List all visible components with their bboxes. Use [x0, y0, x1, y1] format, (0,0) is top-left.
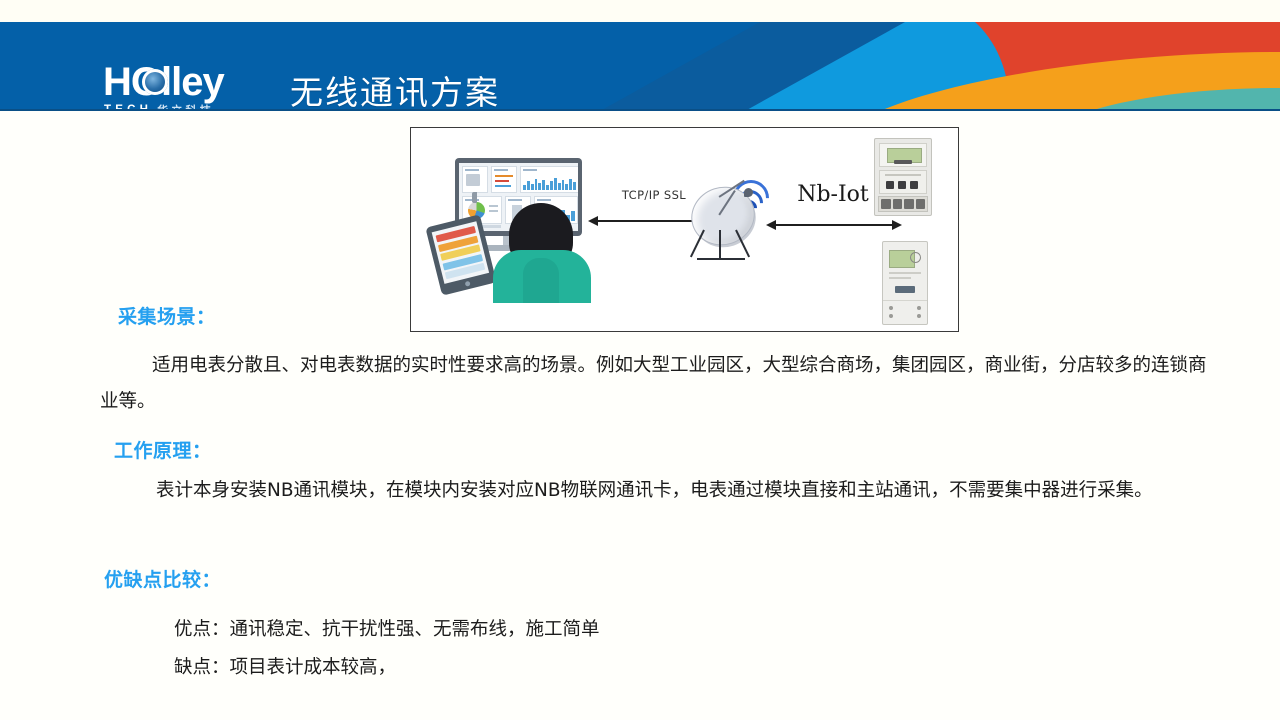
section-heading-principle: 工作原理：: [114, 436, 212, 463]
dashboard-card: [462, 166, 488, 193]
satellite-dish-icon: [689, 168, 769, 278]
slide-root: HOlley TECH 华立科技 无线通讯方案: [0, 0, 1280, 720]
meter-terminal-holes: [886, 181, 918, 189]
dashboard-bar-chart: [520, 166, 578, 193]
operator-body: [493, 250, 591, 303]
tablet-home-button: [465, 281, 471, 287]
three-phase-meter-icon: [874, 138, 932, 216]
single-phase-meter-icon: [882, 241, 928, 325]
tablet-screen: [432, 221, 489, 284]
diagram-canvas: TCP/IP SSL Nb-Iot: [411, 128, 958, 331]
dish-pole: [719, 230, 721, 258]
meter-label-panel: [879, 170, 927, 194]
logo-ring-icon: [142, 69, 168, 95]
meter-terminal-block: [878, 196, 928, 212]
holley-logo: HOlley TECH 华立科技: [103, 62, 263, 111]
comparison-disadvantage: 缺点：项目表计成本较高，: [174, 650, 1174, 686]
top-strip: [0, 0, 1280, 22]
section-heading-comparison: 优缺点比较：: [104, 565, 221, 592]
page-title: 无线通讯方案: [290, 66, 500, 111]
slide-header: HOlley TECH 华立科技 无线通讯方案: [0, 22, 1280, 111]
comparison-advantage: 优点：通讯稳定、抗干扰性强、无需布线，施工简单: [174, 612, 1174, 648]
section-body-principle: 表计本身安装NB通讯模块，在模块内安装对应NB物联网通讯卡，电表通过模块直接和主…: [104, 473, 1214, 509]
dish-foot-bar: [697, 258, 745, 260]
section-body-scene: 适用电表分散且、对电表数据的实时性要求高的场景。例如大型工业园区，大型综合商场，…: [100, 348, 1220, 420]
monitor-side-port: [472, 192, 477, 203]
dish-lnb: [744, 188, 753, 197]
section-heading-scene: 采集场景：: [118, 302, 216, 329]
dashboard-card: [491, 166, 517, 193]
nbiot-arrow: [766, 220, 902, 230]
header-bottom-edge: [0, 109, 1280, 111]
meter-button: [894, 160, 912, 164]
meter-nameplate: [895, 286, 915, 293]
operator-workstation: [433, 158, 608, 303]
architecture-diagram: TCP/IP SSL Nb-Iot: [410, 127, 959, 332]
meter-knob: [910, 252, 921, 263]
meter-display-panel: [879, 143, 927, 167]
